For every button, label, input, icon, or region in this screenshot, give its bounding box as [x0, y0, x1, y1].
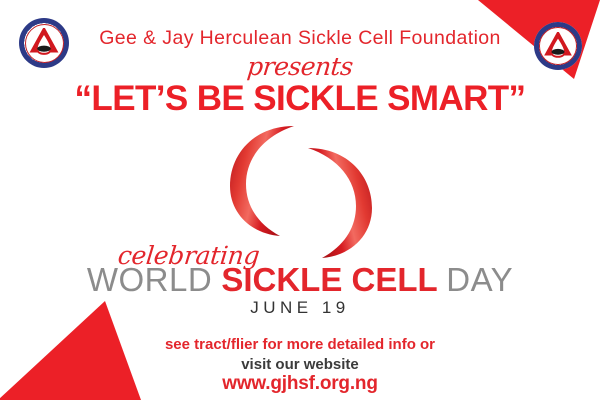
sickle-cell-crescent-left-icon — [228, 120, 302, 238]
footer-info-line: see tract/flier for more detailed info o… — [0, 336, 600, 353]
page-title: “LET’S BE SICKLE SMART” — [0, 79, 600, 119]
footer-visit-line: visit our website — [0, 356, 600, 373]
event-title-day: DAY — [446, 261, 513, 298]
sickle-cell-graphic — [228, 120, 374, 260]
poster-canvas: Gee & Jay Herculean Sickle Cell Foundati… — [0, 0, 600, 400]
sickle-cell-crescent-right-icon — [300, 142, 374, 260]
event-title: WORLD SICKLE CELL DAY — [0, 261, 600, 299]
presents-label: presents — [0, 52, 600, 81]
organization-name: Gee & Jay Herculean Sickle Cell Foundati… — [0, 27, 600, 50]
event-date: JUNE 19 — [0, 298, 600, 318]
celebrating-label: celebrating — [116, 241, 260, 270]
footer-website[interactable]: www.gjhsf.org.ng — [0, 373, 600, 395]
